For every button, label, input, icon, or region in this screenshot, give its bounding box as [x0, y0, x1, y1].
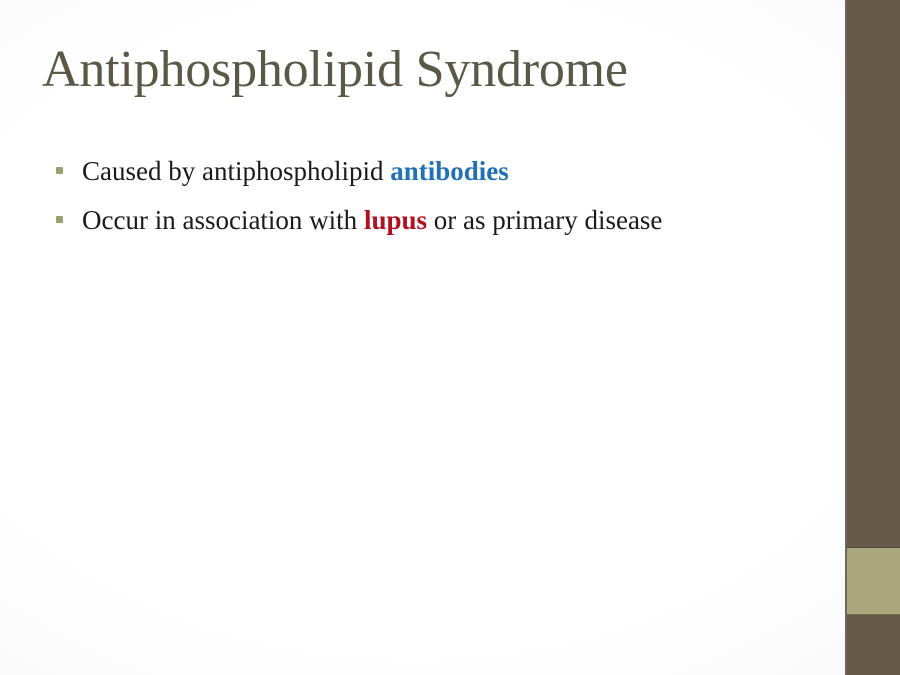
side-decoration-bottom-band — [847, 615, 900, 675]
slide-bullet-list: Caused by antiphospholipid antibodies Oc… — [50, 155, 830, 253]
slide-content-area: Antiphospholipid Syndrome Caused by anti… — [0, 0, 900, 675]
slide-title-placeholder: Antiphospholipid Syndrome — [42, 42, 832, 97]
side-decoration-middle-band — [847, 548, 900, 615]
slide-side-decoration — [845, 0, 900, 675]
list-item: Caused by antiphospholipid antibodies — [50, 155, 830, 188]
bullet-text-lead: Caused by antiphospholipid — [82, 156, 390, 186]
bullet-text-emphasis-antibodies: antibodies — [390, 156, 509, 186]
bullet-text-emphasis-lupus: lupus — [364, 205, 427, 235]
side-decoration-top-band — [847, 0, 900, 548]
presentation-slide: Antiphospholipid Syndrome Caused by anti… — [0, 0, 900, 675]
square-bullet-icon — [56, 216, 63, 223]
list-item: Occur in association with lupus or as pr… — [50, 204, 830, 237]
square-bullet-icon — [56, 167, 63, 174]
bullet-text-trail: or as primary disease — [427, 205, 662, 235]
bullet-text-lead: Occur in association with — [82, 205, 364, 235]
page-title: Antiphospholipid Syndrome — [42, 42, 832, 97]
